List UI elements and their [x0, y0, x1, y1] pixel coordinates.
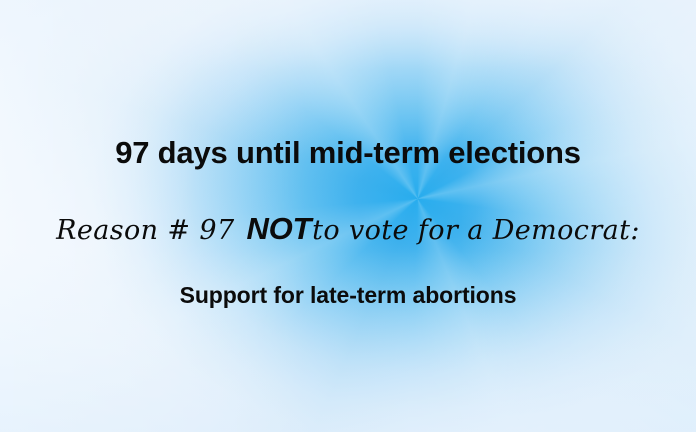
reason-suffix-text: to vote for a Democrat:: [312, 215, 640, 246]
countdown-headline: 97 days until mid-term elections: [0, 137, 696, 168]
reason-prefix-text: Reason # 97: [56, 215, 243, 246]
reason-emphasis-not: NOT: [244, 211, 313, 246]
poster-canvas: 97 days until mid-term elections Reason …: [0, 0, 696, 432]
poster-content: 97 days until mid-term elections Reason …: [0, 0, 696, 432]
reason-statement: Support for late-term abortions: [0, 284, 696, 307]
reason-line: Reason # 97 NOTto vote for a Democrat:: [0, 213, 696, 244]
